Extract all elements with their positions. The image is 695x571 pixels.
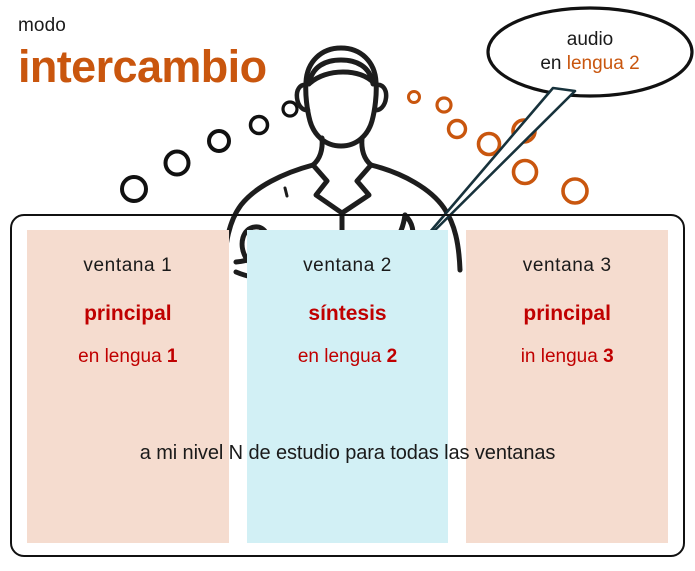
window-2-language-prefix: en lengua: [298, 346, 387, 367]
speech-bubble-line-2-highlight: lengua 2: [567, 53, 640, 74]
speech-bubble-line-2: en lengua 2: [540, 52, 639, 76]
window-2-language: en lengua 2: [247, 347, 449, 366]
speech-bubble-text-group: audio en lengua 2: [490, 8, 690, 106]
window-1-language-prefix: en lengua: [78, 346, 167, 367]
black-bubble-1: [122, 177, 146, 201]
window-2-role: síntesis: [247, 303, 449, 324]
orange-bubble-4: [479, 134, 500, 155]
windows-columns-row: ventana 1 principal en lengua 1 ventana …: [27, 230, 668, 543]
window-column-2[interactable]: ventana 2 síntesis en lengua 2: [247, 230, 449, 543]
window-3-role: principal: [466, 303, 668, 324]
orange-bubble-1: [409, 92, 420, 103]
window-1-language: en lengua 1: [27, 347, 229, 366]
window-1-title: ventana 1: [27, 256, 229, 275]
window-3-language-number: 3: [603, 346, 614, 367]
black-bubble-2: [166, 152, 189, 175]
window-column-3[interactable]: ventana 3 principal in lengua 3: [466, 230, 668, 543]
orange-bubbles-group: [409, 92, 588, 204]
speech-bubble-line-1: audio: [567, 28, 614, 52]
black-bubble-3: [209, 131, 229, 151]
black-bubble-4: [251, 117, 268, 134]
window-3-language: in lengua 3: [466, 347, 668, 366]
orange-bubble-2: [437, 98, 451, 112]
page-title: intercambio: [18, 44, 266, 89]
window-2-language-number: 2: [387, 346, 398, 367]
header: modo intercambio: [0, 0, 340, 110]
orange-bubble-7: [563, 179, 587, 203]
window-3-language-prefix: in lengua: [521, 346, 603, 367]
orange-bubble-5: [513, 120, 535, 142]
black-bubbles-group: [122, 102, 297, 201]
modo-kicker: modo: [18, 16, 66, 35]
window-2-title: ventana 2: [247, 256, 449, 275]
level-caption: a mi nivel N de estudio para todas las v…: [27, 443, 668, 463]
window-1-role: principal: [27, 303, 229, 324]
orange-bubble-6: [514, 161, 537, 184]
window-3-title: ventana 3: [466, 256, 668, 275]
orange-bubble-3: [449, 121, 466, 138]
speech-bubble-line-2-prefix: en: [540, 53, 566, 74]
window-1-language-number: 1: [167, 346, 178, 367]
window-column-1[interactable]: ventana 1 principal en lengua 1: [27, 230, 229, 543]
